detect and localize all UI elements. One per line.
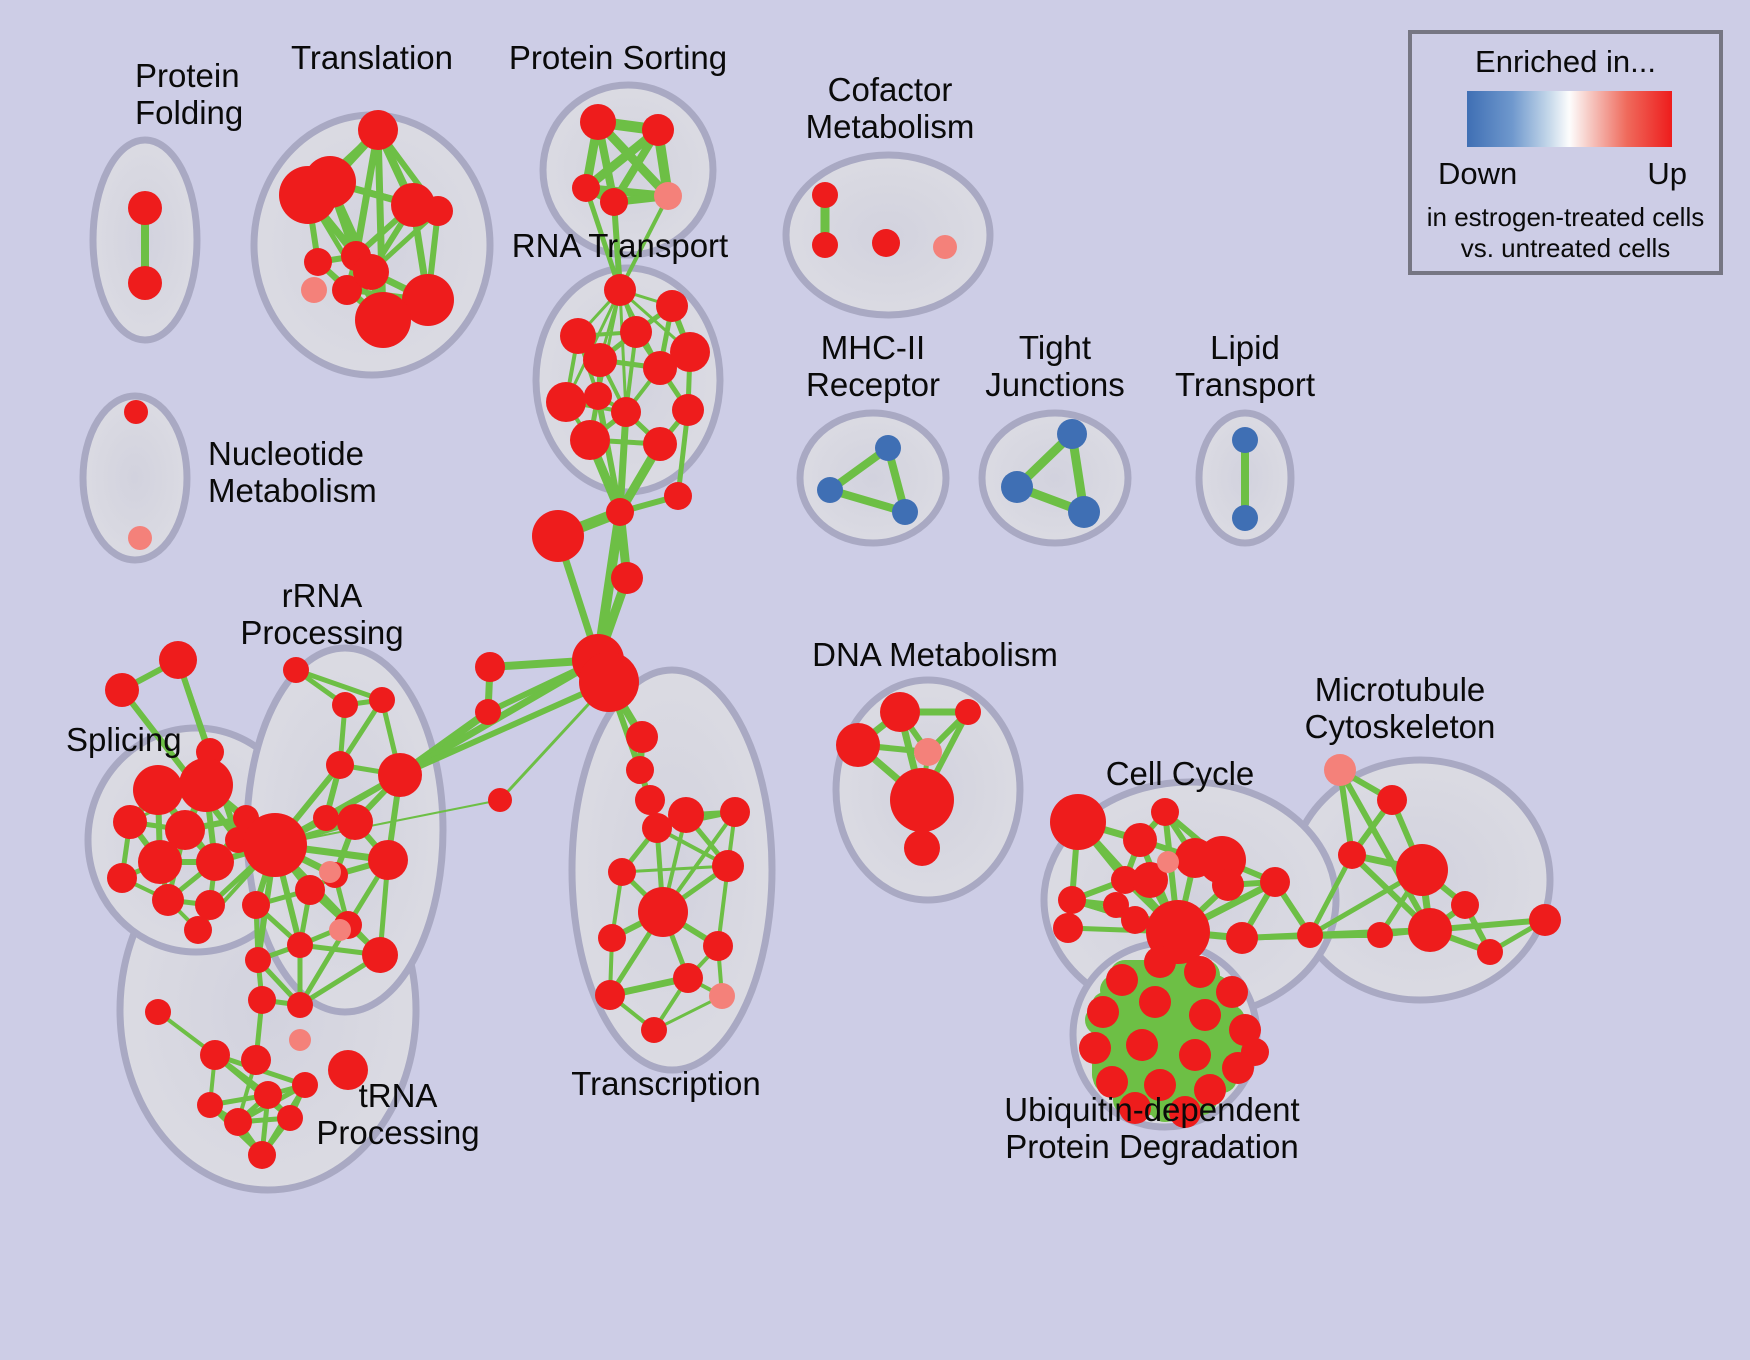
cluster-label-protein-sorting: Protein Sorting: [509, 40, 727, 77]
cluster-label-tight-junctions: Tight Junctions: [985, 330, 1124, 404]
cluster-label-cell-cycle: Cell Cycle: [1106, 756, 1255, 793]
cluster-label-rrna-processing: rRNA Processing: [240, 578, 403, 652]
cluster-label-protein-folding: Protein Folding: [135, 58, 243, 132]
legend-up-label: Up: [1647, 156, 1687, 192]
legend-title: Enriched in...: [1412, 44, 1719, 80]
cluster-label-dna-metabolism: DNA Metabolism: [812, 637, 1058, 674]
legend-color-gradient-bar: [1467, 91, 1672, 147]
cluster-label-splicing: Splicing: [66, 722, 182, 759]
cluster-label-ubiquitin-degradation: Ubiquitin-dependent Protein Degradation: [1004, 1092, 1299, 1166]
legend-panel: Enriched in... Down Up in estrogen-treat…: [1408, 30, 1723, 275]
cluster-label-rna-transport: RNA Transport: [512, 228, 728, 265]
cluster-label-cofactor-metabolism: Cofactor Metabolism: [806, 72, 975, 146]
enrichment-network-figure: .hull{fill:url(#cg);stroke:#a9a9c3;strok…: [0, 0, 1750, 1360]
cluster-label-mhc-ii-receptor: MHC-II Receptor: [806, 330, 940, 404]
cluster-label-transcription: Transcription: [571, 1066, 761, 1103]
cluster-label-microtubule-cytoskeleton: Microtubule Cytoskeleton: [1305, 672, 1496, 746]
cluster-label-translation: Translation: [291, 40, 453, 77]
legend-subtitle: in estrogen-treated cells vs. untreated …: [1412, 202, 1719, 264]
cluster-label-trna-processing: tRNA Processing: [316, 1078, 479, 1152]
legend-down-label: Down: [1438, 156, 1517, 192]
cluster-label-nucleotide-metabolism: Nucleotide Metabolism: [208, 436, 377, 510]
cluster-label-lipid-transport: Lipid Transport: [1175, 330, 1315, 404]
hull-mhc-ii-receptor: [800, 413, 946, 543]
